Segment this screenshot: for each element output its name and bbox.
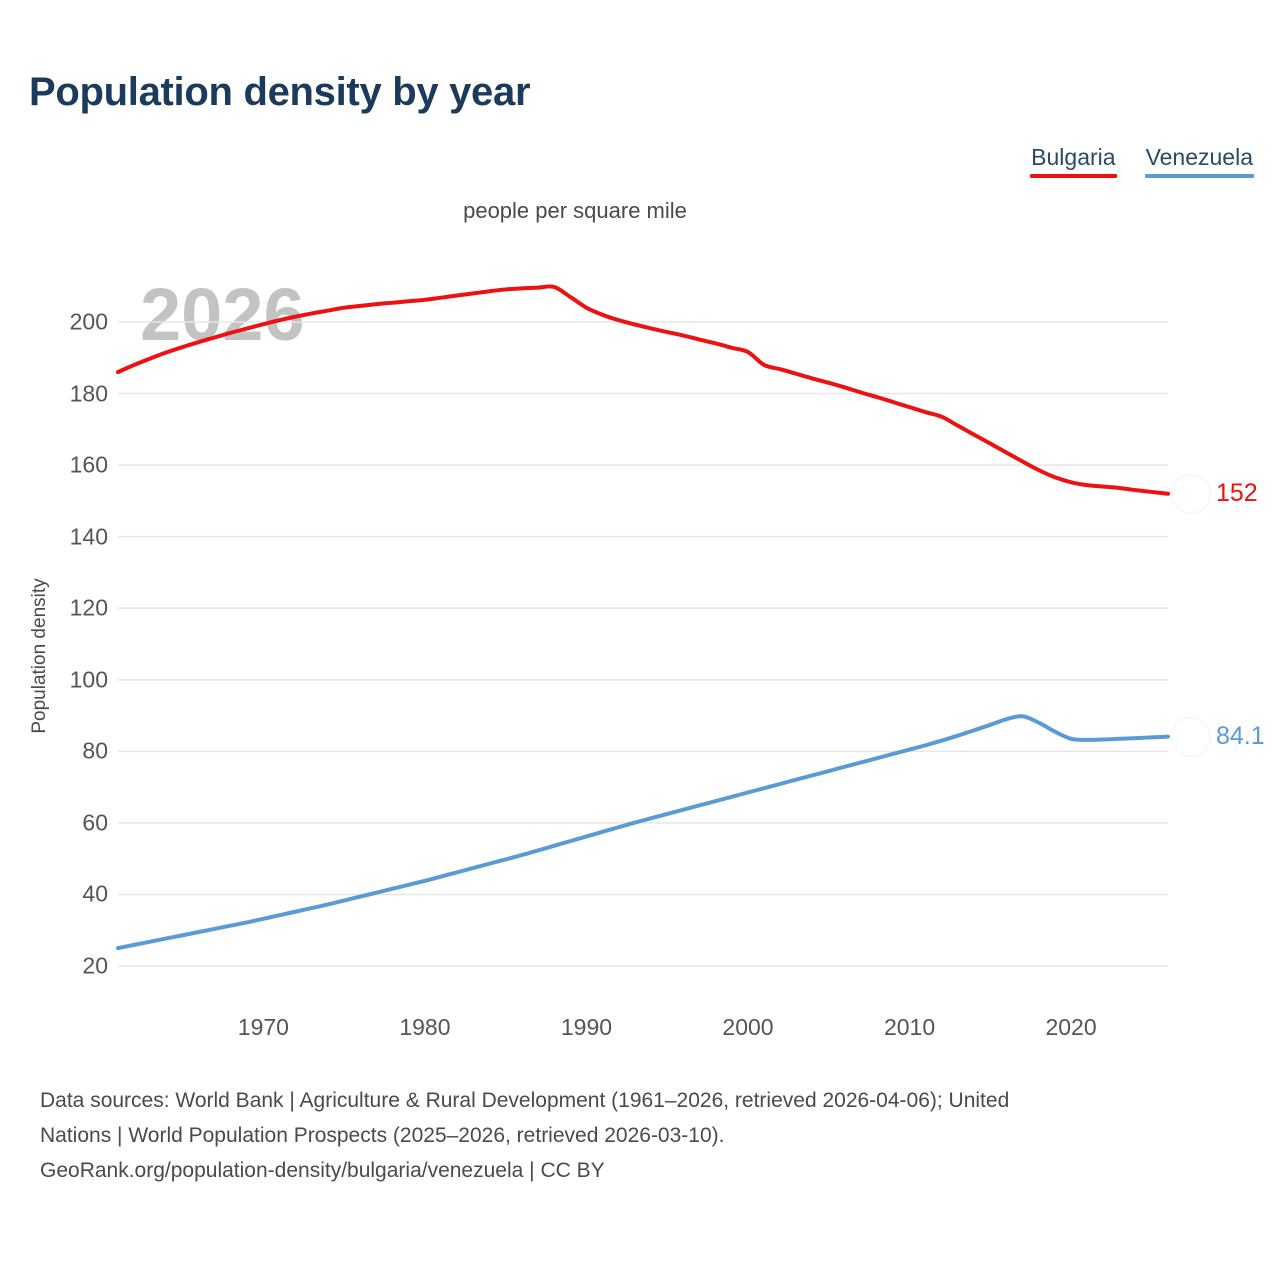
chart-page: Population density by year Bulgaria Vene… (0, 0, 1280, 1280)
endpoint-bulgaria: 152 (1172, 475, 1258, 513)
y-tick-label: 100 (20, 666, 108, 693)
y-tick-label: 60 (20, 809, 108, 836)
x-tick-label: 1980 (399, 1014, 450, 1041)
y-axis-title: Population density (29, 556, 51, 756)
footer-line-2: Nations | World Population Prospects (20… (40, 1118, 1255, 1153)
y-tick-label: 160 (20, 452, 108, 479)
endpoint-value-venezuela: 84.1 (1216, 722, 1265, 751)
series-line-bulgaria (118, 286, 1168, 493)
x-tick-label: 1970 (238, 1014, 289, 1041)
y-tick-label: 120 (20, 595, 108, 622)
x-tick-label: 2000 (722, 1014, 773, 1041)
series-lines (118, 286, 1168, 948)
footer-line-1: Data sources: World Bank | Agriculture &… (40, 1083, 1255, 1118)
y-tick-label: 200 (20, 309, 108, 336)
y-tick-label: 180 (20, 380, 108, 407)
y-tick-label: 40 (20, 881, 108, 908)
bulgaria-flag-icon (1172, 475, 1210, 513)
plot-area: 2026 Population density 2040608010012014… (0, 0, 1280, 1060)
gridlines (118, 322, 1168, 966)
y-tick-label: 140 (20, 523, 108, 550)
chart-svg (0, 0, 1280, 1060)
x-tick-label: 2020 (1045, 1014, 1096, 1041)
endpoint-value-bulgaria: 152 (1216, 479, 1258, 508)
endpoint-venezuela: ★★★★★★★★ 84.1 (1172, 718, 1265, 756)
x-tick-label: 2010 (884, 1014, 935, 1041)
footer-sources: Data sources: World Bank | Agriculture &… (40, 1083, 1255, 1188)
x-tick-label: 1990 (561, 1014, 612, 1041)
y-tick-label: 80 (20, 738, 108, 765)
y-tick-label: 20 (20, 953, 108, 980)
footer-line-3: GeoRank.org/population-density/bulgaria/… (40, 1153, 1255, 1188)
venezuela-flag-icon: ★★★★★★★★ (1172, 718, 1210, 756)
